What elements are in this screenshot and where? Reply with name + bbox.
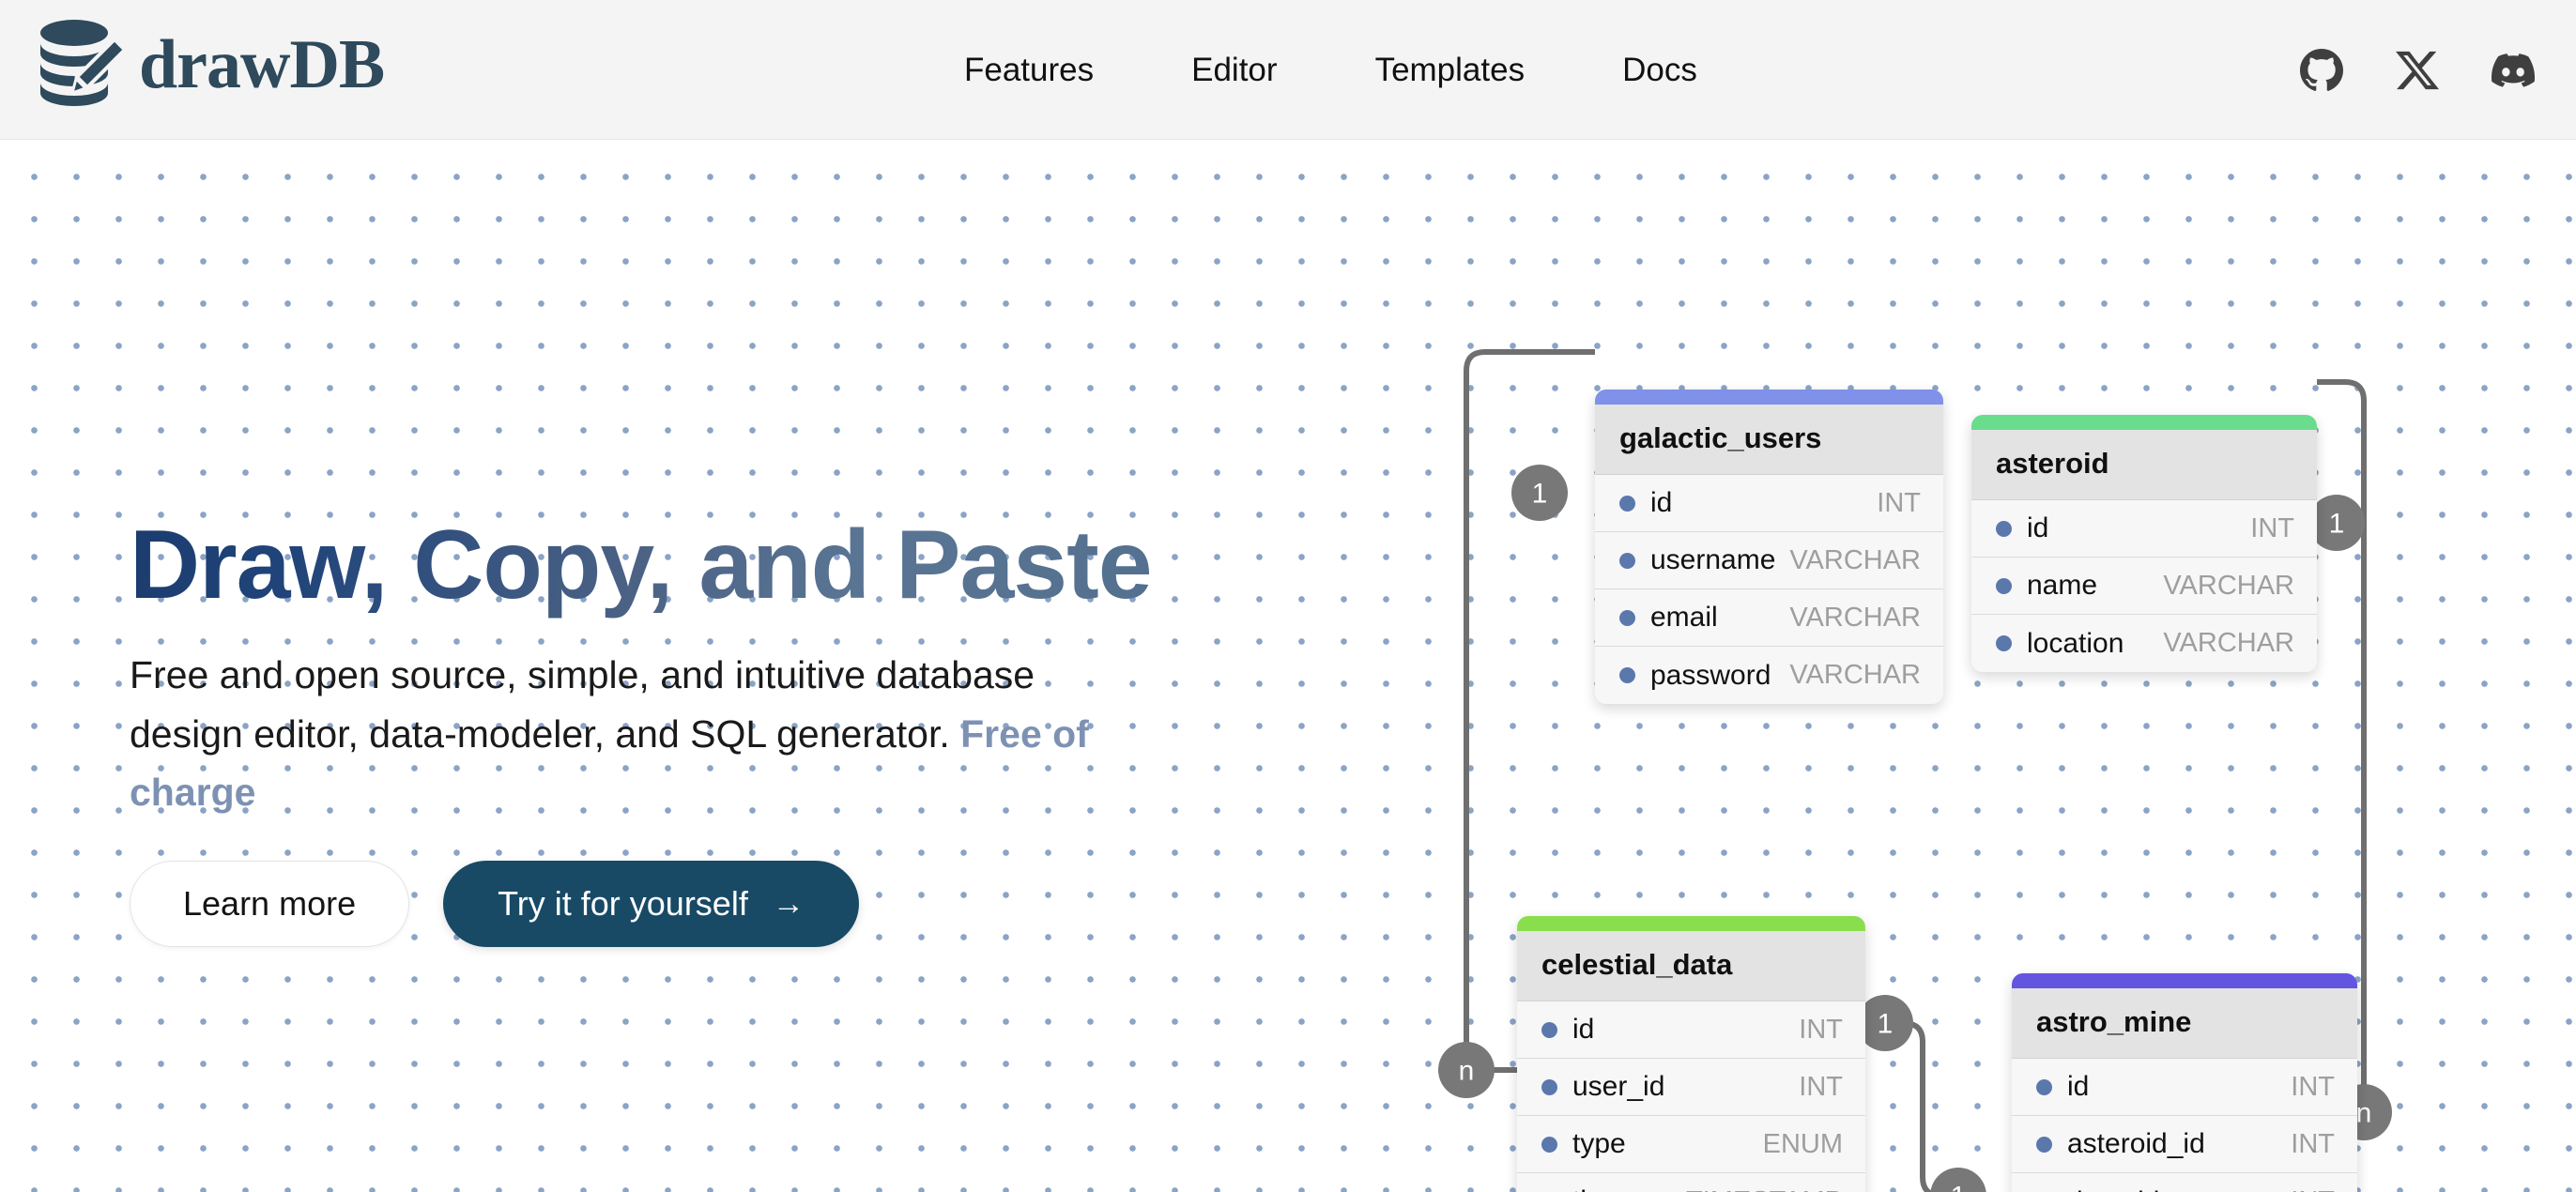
field-name: id <box>1572 1014 1799 1046</box>
brand-logo-link[interactable]: drawDB <box>36 17 384 113</box>
table-field[interactable]: data_id INT <box>2012 1173 2357 1192</box>
svg-text:1: 1 <box>1951 1182 1967 1192</box>
table-field[interactable]: time TIMESTAMP <box>1517 1173 1865 1192</box>
hero-actions: Learn more Try it for yourself → <box>130 861 1162 947</box>
field-key-dot-icon <box>1541 1022 1557 1038</box>
table-field[interactable]: id INT <box>1595 475 1943 532</box>
cardinality-badge-celestial-data-user: n <box>1438 1042 1495 1098</box>
field-key-dot-icon <box>2036 1079 2052 1095</box>
field-type: VARCHAR <box>1789 603 1921 634</box>
field-name: data_id <box>2067 1186 2291 1192</box>
brand-name: drawDB <box>139 30 384 99</box>
field-key-dot-icon <box>1619 553 1635 569</box>
github-icon[interactable] <box>2300 49 2343 92</box>
svg-text:n: n <box>1459 1056 1475 1087</box>
nav-item-templates[interactable]: Templates <box>1326 52 1574 89</box>
discord-icon[interactable] <box>2492 49 2535 92</box>
field-name: username <box>1650 544 1789 576</box>
x-twitter-icon[interactable] <box>2396 49 2439 92</box>
field-type: ENUM <box>1763 1129 1843 1160</box>
hero-subtitle-main: Free and open source, simple, and intuit… <box>130 653 1035 755</box>
table-node-asteroid[interactable]: asteroid id INT name VARCHAR location VA… <box>1971 415 2317 672</box>
table-field[interactable]: id INT <box>1971 500 2317 558</box>
field-type: INT <box>1799 1015 1843 1046</box>
table-field[interactable]: username VARCHAR <box>1595 532 1943 589</box>
nav-item-docs[interactable]: Docs <box>1573 52 1746 89</box>
table-field[interactable]: asteroid_id INT <box>2012 1116 2357 1173</box>
field-type: INT <box>2250 513 2294 544</box>
nav-item-editor[interactable]: Editor <box>1142 52 1326 89</box>
field-name: id <box>1650 487 1877 519</box>
cardinality-badge-asteroid: 1 <box>2308 495 2365 551</box>
field-key-dot-icon <box>2036 1137 2052 1153</box>
field-key-dot-icon <box>1619 496 1635 512</box>
field-name: password <box>1650 660 1789 692</box>
site-header: drawDB Features Editor Templates Docs <box>0 0 2576 140</box>
cardinality-badge-celestial-data-id: 1 <box>1857 995 1913 1051</box>
cardinality-badge-galactic-users: 1 <box>1511 465 1568 521</box>
field-name: user_id <box>1572 1071 1799 1103</box>
table-field[interactable]: id INT <box>2012 1059 2357 1116</box>
table-field[interactable]: user_id INT <box>1517 1059 1865 1116</box>
field-key-dot-icon <box>1619 667 1635 683</box>
field-type: INT <box>1877 488 1921 519</box>
table-accent-bar <box>1971 415 2317 430</box>
field-type: VARCHAR <box>1789 545 1921 576</box>
svg-text:1: 1 <box>2329 509 2345 540</box>
field-name: name <box>2027 570 2163 602</box>
field-type: VARCHAR <box>2163 628 2294 659</box>
try-it-label: Try it for yourself <box>498 884 748 924</box>
database-pencil-logo-icon <box>36 17 126 113</box>
field-name: id <box>2067 1071 2291 1103</box>
nav-item-features[interactable]: Features <box>915 52 1142 89</box>
svg-text:1: 1 <box>1878 1009 1894 1040</box>
field-type: INT <box>2291 1072 2335 1103</box>
field-type: VARCHAR <box>1789 660 1921 691</box>
field-type: TIMESTAMP <box>1686 1186 1843 1192</box>
table-node-celestial-data[interactable]: celestial_data id INT user_id INT type E… <box>1517 916 1865 1192</box>
field-key-dot-icon <box>1996 635 2012 651</box>
field-key-dot-icon <box>1996 521 2012 537</box>
table-field[interactable]: name VARCHAR <box>1971 558 2317 615</box>
table-title: astro_mine <box>2012 988 2357 1059</box>
field-type: INT <box>2291 1186 2335 1192</box>
field-name: location <box>2027 628 2163 660</box>
main-nav: Features Editor Templates Docs <box>915 0 1746 140</box>
table-title: celestial_data <box>1517 931 1865 1001</box>
table-field[interactable]: type ENUM <box>1517 1116 1865 1173</box>
field-key-dot-icon <box>1541 1079 1557 1095</box>
field-name: id <box>2027 512 2250 544</box>
table-title: asteroid <box>1971 430 2317 500</box>
field-type: INT <box>1799 1072 1843 1103</box>
table-field[interactable]: id INT <box>1517 1001 1865 1059</box>
svg-text:1: 1 <box>1532 479 1548 510</box>
hero-subtitle: Free and open source, simple, and intuit… <box>130 646 1125 821</box>
try-it-button[interactable]: Try it for yourself → <box>443 861 859 947</box>
table-accent-bar <box>1595 390 1943 405</box>
table-field[interactable]: location VARCHAR <box>1971 615 2317 672</box>
table-accent-bar <box>2012 973 2357 988</box>
field-key-dot-icon <box>1541 1137 1557 1153</box>
field-key-dot-icon <box>1996 578 2012 594</box>
table-field[interactable]: email VARCHAR <box>1595 589 1943 647</box>
table-accent-bar <box>1517 916 1865 931</box>
svg-text:n: n <box>2356 1098 2372 1129</box>
table-title: galactic_users <box>1595 405 1943 475</box>
table-field[interactable]: password VARCHAR <box>1595 647 1943 704</box>
social-links <box>2300 0 2535 140</box>
table-node-astro-mine[interactable]: astro_mine id INT asteroid_id INT data_i… <box>2012 973 2357 1192</box>
field-name: email <box>1650 602 1789 634</box>
field-name: type <box>1572 1128 1763 1160</box>
learn-more-button[interactable]: Learn more <box>130 861 409 947</box>
cardinality-badge-astro-mine-data: 1 <box>1930 1168 1986 1192</box>
table-node-galactic-users[interactable]: galactic_users id INT username VARCHAR e… <box>1595 390 1943 704</box>
field-name: time <box>1572 1185 1686 1192</box>
field-type: INT <box>2291 1129 2335 1160</box>
page-title: Draw, Copy, and Paste <box>130 511 1162 619</box>
diagram-canvas[interactable]: 1 n 1 n 1 1 Draw <box>0 141 2576 1192</box>
field-key-dot-icon <box>1619 610 1635 626</box>
field-name: asteroid_id <box>2067 1128 2291 1160</box>
field-type: VARCHAR <box>2163 571 2294 602</box>
arrow-right-icon: → <box>773 888 805 920</box>
page-root: drawDB Features Editor Templates Docs <box>0 0 2576 1192</box>
relationship-celestial-data-astro-mine <box>1865 1023 2012 1192</box>
hero-section: Draw, Copy, and Paste Free and open sour… <box>130 511 1162 947</box>
